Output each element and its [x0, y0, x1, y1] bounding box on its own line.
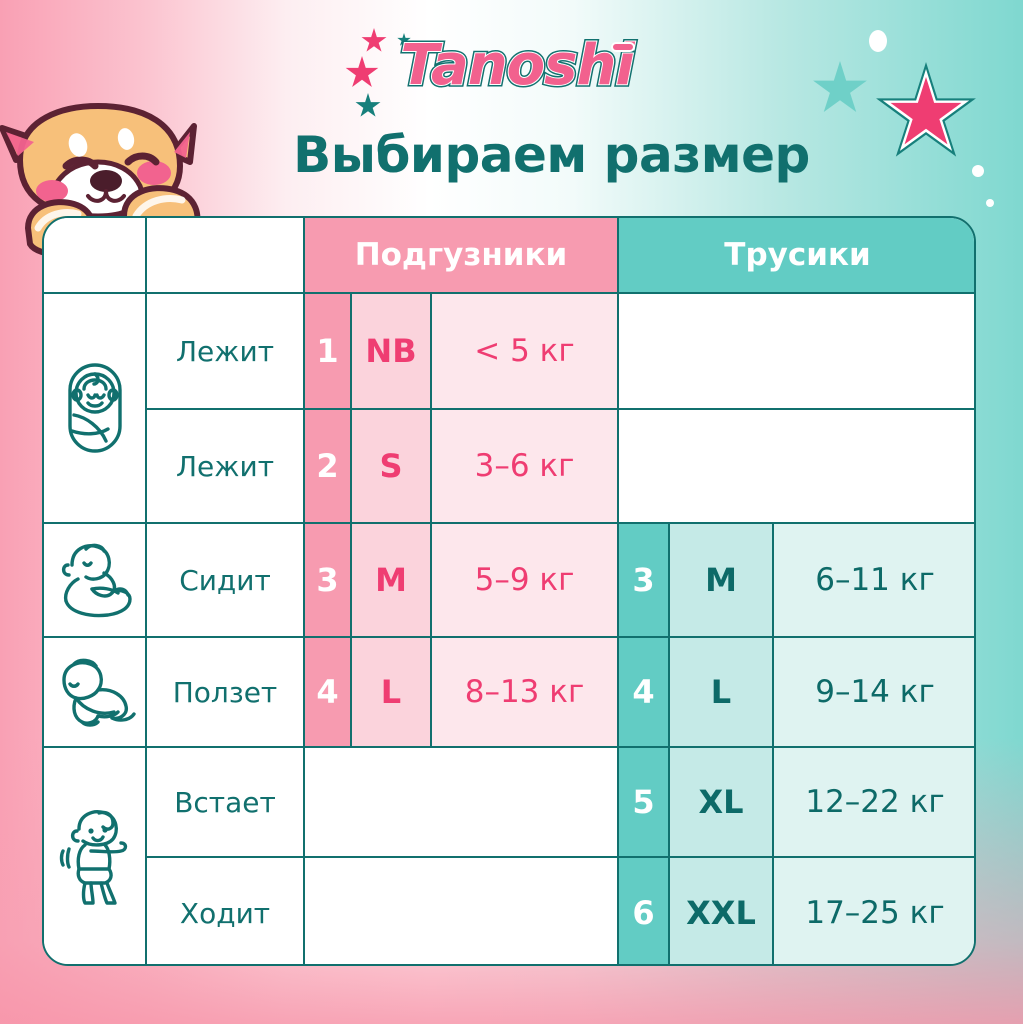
stage-label: Лежит [147, 410, 305, 524]
dot-white-1 [869, 30, 887, 52]
diaper-weight: 8–13 кг [432, 638, 619, 748]
diaper-size-empty [352, 858, 432, 966]
diaper-number-empty [305, 858, 352, 966]
diaper-weight-empty [432, 748, 619, 858]
star-teal-small-icon [812, 61, 868, 117]
standing-baby-icon [44, 748, 147, 966]
table-header-diapers: Подгузники [305, 218, 619, 294]
pants-size: XXL [670, 858, 774, 966]
pants-number: 4 [619, 638, 670, 748]
diaper-size-empty [352, 748, 432, 858]
pants-weight-empty [774, 294, 976, 410]
swaddled-baby-icon [44, 294, 147, 524]
diaper-number: 4 [305, 638, 352, 748]
pants-number-empty [619, 410, 670, 524]
pants-number-empty [619, 294, 670, 410]
table-header-blank-stage-col [147, 218, 305, 294]
stage-label: Ползет [147, 638, 305, 748]
logo-macron-icon [613, 44, 633, 50]
crawling-baby-icon [44, 638, 147, 748]
pants-weight: 12–22 кг [774, 748, 976, 858]
size-chart-table: Подгузники Трусики Лежит [42, 216, 976, 966]
diaper-size: M [352, 524, 432, 638]
brand-logo: Tanoshi Tanoshi [383, 30, 651, 102]
star-teal-medium-icon [355, 93, 381, 119]
diaper-weight: 3–6 кг [432, 410, 619, 524]
diaper-number: 2 [305, 410, 352, 524]
pants-weight-empty [774, 410, 976, 524]
diaper-number: 3 [305, 524, 352, 638]
diaper-weight: 5–9 кг [432, 524, 619, 638]
pants-number: 3 [619, 524, 670, 638]
pants-weight: 17–25 кг [774, 858, 976, 966]
diaper-weight: < 5 кг [432, 294, 619, 410]
stage-label: Лежит [147, 294, 305, 410]
stage-label: Встает [147, 748, 305, 858]
diaper-size: S [352, 410, 432, 524]
pants-size-empty [670, 410, 774, 524]
diaper-size: NB [352, 294, 432, 410]
pants-weight: 6–11 кг [774, 524, 976, 638]
diaper-size: L [352, 638, 432, 748]
diaper-number-empty [305, 748, 352, 858]
diaper-weight-empty [432, 858, 619, 966]
star-pink-medium-icon [345, 56, 379, 90]
diaper-number: 1 [305, 294, 352, 410]
pants-number: 6 [619, 858, 670, 966]
table-header-blank-icon-col [44, 218, 147, 294]
sitting-baby-icon [44, 524, 147, 638]
pants-number: 5 [619, 748, 670, 858]
pants-size: XL [670, 748, 774, 858]
pants-size: M [670, 524, 774, 638]
stage-label: Ходит [147, 858, 305, 966]
table-header-pants: Трусики [619, 218, 976, 294]
poster-canvas: Tanoshi Tanoshi Выбираем размер [0, 0, 1023, 1024]
brand-logo-text: Tanoshi [383, 30, 651, 102]
stage-label: Сидит [147, 524, 305, 638]
pants-size: L [670, 638, 774, 748]
pants-weight: 9–14 кг [774, 638, 976, 748]
pants-size-empty [670, 294, 774, 410]
dot-white-3 [986, 199, 994, 207]
